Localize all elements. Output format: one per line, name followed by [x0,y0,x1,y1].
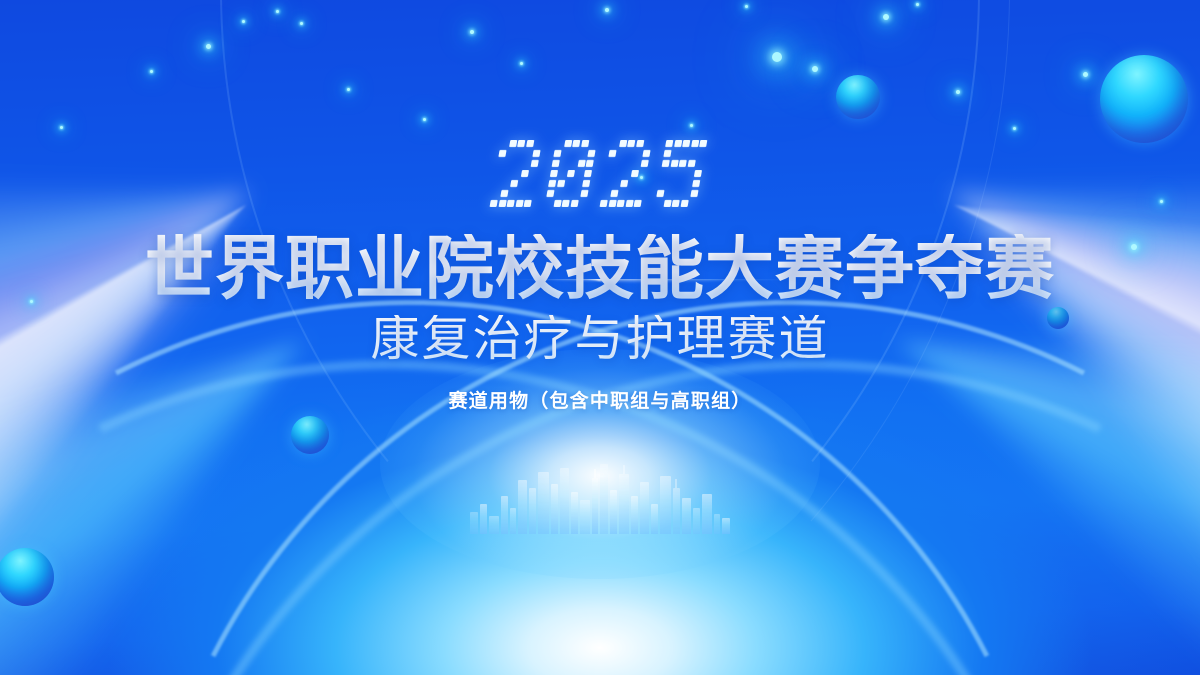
page-tagline: 赛道用物（包含中职组与高职组） [448,392,751,411]
year-digit-3 [653,140,712,212]
poster-content: 世界职业院校技能大赛争夺赛 康复治疗与护理赛道 赛道用物（包含中职组与高职组） [0,0,1200,675]
page-subtitle: 康复治疗与护理赛道 [370,315,829,364]
year-digit-0 [488,140,547,212]
year-digit-2 [598,140,657,212]
year-2025 [488,140,712,212]
year-digit-1 [543,140,602,212]
poster-canvas: 世界职业院校技能大赛争夺赛 康复治疗与护理赛道 赛道用物（包含中职组与高职组） [0,0,1200,675]
page-title: 世界职业院校技能大赛争夺赛 [145,234,1055,303]
